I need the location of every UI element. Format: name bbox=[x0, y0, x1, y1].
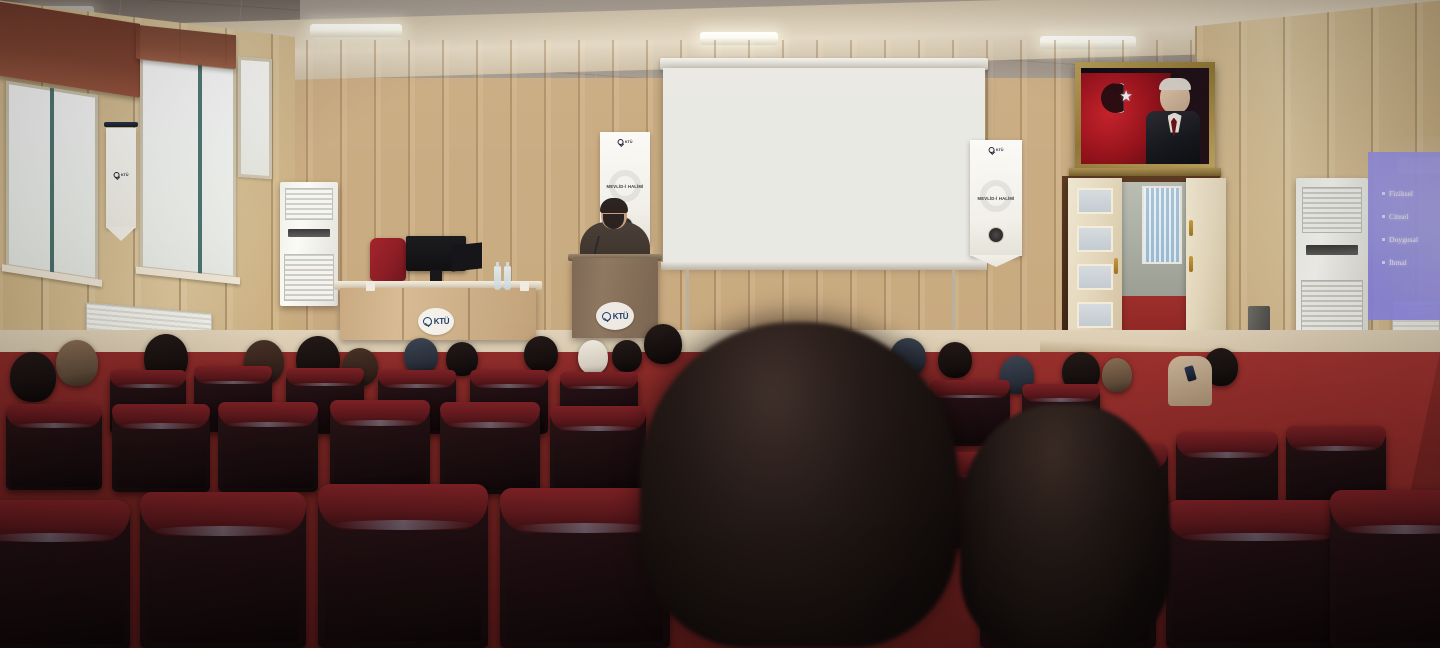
ac-display bbox=[288, 229, 330, 236]
podium-ktu-logo: KTÜ bbox=[596, 302, 634, 330]
ktu-swoosh-icon bbox=[989, 147, 995, 153]
banner-ktu-logo: KTÜ bbox=[989, 147, 1004, 153]
audience-head bbox=[404, 338, 438, 374]
cup-left bbox=[366, 282, 375, 291]
auditorium-photo: KTÜ İstismar Tipleri Fiziksel Cinsel bbox=[0, 0, 1440, 648]
banner-seal bbox=[989, 228, 1003, 242]
audience-seat[interactable] bbox=[440, 402, 540, 494]
ataturk-hair bbox=[1159, 78, 1191, 90]
audience-seat[interactable] bbox=[6, 404, 102, 490]
ktu-swoosh-icon bbox=[114, 172, 120, 178]
pennant-logo-text: KTÜ bbox=[121, 173, 128, 177]
ataturk-portrait-frame: ★ bbox=[1075, 62, 1215, 170]
bullet-label: İhmal bbox=[1389, 258, 1407, 267]
door-glass-panel bbox=[1077, 188, 1113, 214]
window-1 bbox=[6, 81, 98, 282]
door-glass-panel bbox=[1077, 264, 1113, 290]
audience-head bbox=[612, 340, 642, 372]
podium-logo-text: KTÜ bbox=[613, 312, 629, 321]
audience-seat[interactable] bbox=[112, 404, 210, 492]
slide-title: İstismar Tipleri bbox=[1398, 157, 1440, 174]
slide-bullet-item: Duygusal bbox=[1382, 228, 1440, 251]
door-leaf-left[interactable] bbox=[1068, 178, 1122, 354]
window-2 bbox=[140, 57, 236, 279]
slide-bullet-item: İhmal bbox=[1382, 251, 1440, 274]
screen-bottom-bar bbox=[661, 262, 987, 270]
desk-logo-text: KTÜ bbox=[434, 317, 450, 326]
ktu-swoosh-icon bbox=[423, 317, 432, 326]
audience-head bbox=[938, 342, 972, 378]
presenter-chair[interactable] bbox=[370, 238, 406, 281]
audience-head bbox=[56, 340, 98, 386]
slide-bullet-list: Fiziksel Cinsel Duygusal İhmal bbox=[1382, 182, 1440, 274]
ac-bottom-grille bbox=[284, 254, 334, 301]
door-handle-upper[interactable] bbox=[1189, 220, 1193, 236]
slide-bullet-item: Cinsel bbox=[1382, 205, 1440, 228]
audience-seat[interactable] bbox=[330, 400, 430, 492]
speaker-podium: KTÜ bbox=[572, 258, 658, 338]
audience-head bbox=[10, 352, 56, 402]
bullet-square-icon bbox=[1382, 261, 1385, 264]
audience-seat[interactable] bbox=[0, 500, 130, 648]
door-glass-panel bbox=[1077, 226, 1113, 252]
bullet-square-icon bbox=[1382, 192, 1385, 195]
door-opening bbox=[1120, 182, 1186, 350]
water-bottle-2 bbox=[504, 266, 511, 290]
star-icon: ★ bbox=[1119, 89, 1132, 104]
wall-pennant: KTÜ bbox=[106, 128, 136, 228]
pennant-ktu-logo: KTÜ bbox=[114, 172, 129, 178]
ataturk-portrait: ★ bbox=[1081, 68, 1209, 164]
right-rollup-banner: KTÜ MEVLİD-İ HALİMİ bbox=[970, 140, 1022, 256]
window-mullion bbox=[198, 63, 202, 275]
laptop bbox=[452, 242, 482, 271]
door-leaf-right[interactable] bbox=[1186, 178, 1226, 354]
slide-bullet-item: Fiziksel bbox=[1382, 182, 1440, 205]
audience-seat[interactable] bbox=[1166, 500, 1346, 648]
corridor-window bbox=[1142, 186, 1182, 264]
desk-ktu-logo: KTÜ bbox=[418, 308, 454, 335]
bullet-square-icon bbox=[1382, 238, 1385, 241]
audience-seat[interactable] bbox=[1330, 490, 1440, 648]
ataturk-figure bbox=[1145, 80, 1201, 161]
ac-top-grille bbox=[1302, 187, 1363, 233]
foreground-head-right bbox=[960, 404, 1170, 648]
ktu-swoosh-icon bbox=[618, 139, 624, 145]
door-handle[interactable] bbox=[1189, 256, 1193, 272]
banner-ktu-logo: KTÜ bbox=[618, 139, 633, 145]
audience-seat[interactable] bbox=[318, 484, 488, 648]
projected-slide: İstismar Tipleri Fiziksel Cinsel Duygusa… bbox=[1368, 152, 1440, 320]
audience-head bbox=[524, 336, 558, 372]
speaker-hair bbox=[600, 198, 628, 213]
banner-title: MEVLİD-İ HALİMİ bbox=[970, 196, 1022, 201]
window-3 bbox=[238, 57, 272, 179]
cup-right bbox=[520, 282, 529, 291]
banner-logo-text: KTÜ bbox=[996, 148, 1003, 152]
window-mullion bbox=[50, 88, 54, 275]
bullet-label: Duygusal bbox=[1389, 235, 1418, 244]
audience-seat[interactable] bbox=[218, 402, 318, 492]
air-conditioner-left bbox=[280, 182, 338, 306]
banner-logo-text: KTÜ bbox=[625, 140, 632, 144]
banner-title: MEVLİD-İ HALİMİ bbox=[600, 184, 650, 189]
water-bottle-1 bbox=[494, 266, 501, 290]
bullet-square-icon bbox=[1382, 215, 1385, 218]
audience-head bbox=[1102, 358, 1132, 392]
audience-head bbox=[644, 324, 682, 364]
bullet-label: Fiziksel bbox=[1389, 189, 1413, 198]
audience-seat[interactable] bbox=[550, 406, 646, 496]
door-handle[interactable] bbox=[1114, 258, 1118, 274]
projection-screen: İstismar Tipleri Fiziksel Cinsel Duygusa… bbox=[663, 68, 985, 264]
ktu-swoosh-icon bbox=[602, 312, 611, 321]
ceiling-light-1 bbox=[310, 24, 402, 37]
audience-seat[interactable] bbox=[140, 492, 306, 648]
pennant-rod bbox=[104, 122, 138, 127]
bullet-label: Cinsel bbox=[1389, 212, 1408, 221]
foreground-head-center bbox=[640, 322, 958, 648]
ac-top-grille bbox=[285, 188, 334, 220]
window-blind-slats bbox=[1144, 188, 1180, 262]
ac-display bbox=[1306, 245, 1358, 256]
audience-head bbox=[578, 340, 608, 374]
door-glass-panel bbox=[1077, 302, 1113, 328]
air-conditioner-right bbox=[1296, 178, 1368, 354]
